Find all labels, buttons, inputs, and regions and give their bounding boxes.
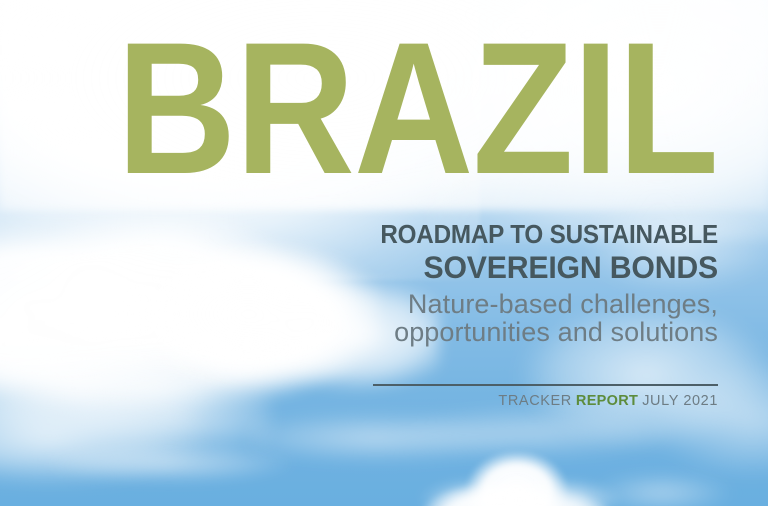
tagline-line-1: Nature-based challenges, [288, 290, 718, 318]
tracker-suffix: JULY 2021 [642, 393, 718, 409]
page-title: BRAZIL [86, 14, 718, 202]
tracker-prefix: TRACKER [498, 393, 572, 409]
subtitle-block: ROADMAP TO SUSTAINABLE SOVEREIGN BONDS N… [288, 220, 718, 346]
tracker-report-line: TRACKER REPORT JULY 2021 [498, 392, 718, 410]
report-cover: BRAZIL ROADMAP TO SUSTAINABLE SOVEREIGN … [0, 0, 768, 506]
tracker-emphasis: REPORT [576, 393, 638, 409]
cover-content: BRAZIL ROADMAP TO SUSTAINABLE SOVEREIGN … [0, 0, 768, 506]
headline-line-2: SOVEREIGN BONDS [305, 250, 718, 284]
headline-line-1: ROADMAP TO SUSTAINABLE [310, 220, 719, 250]
divider-rule [373, 384, 718, 386]
tagline-line-2: opportunities and solutions [288, 318, 718, 346]
